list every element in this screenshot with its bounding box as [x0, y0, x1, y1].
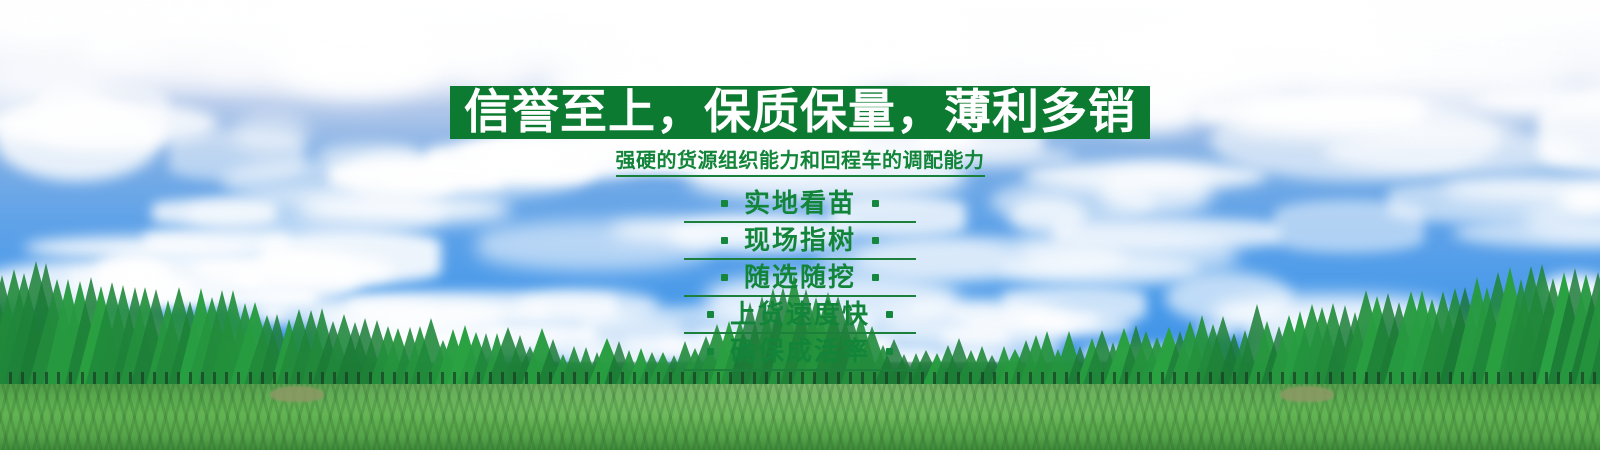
bullet-dot-icon: [886, 348, 893, 355]
feature-list: 实地看苗现场指树随选随挖上货速度快确保成活率: [0, 186, 1600, 371]
soil-mound: [270, 386, 324, 402]
promo-banner: 信誉至上，保质保量，薄利多销 强硬的货源组织能力和回程车的调配能力 实地看苗现场…: [0, 0, 1600, 450]
feature-label: 实地看苗: [744, 190, 856, 218]
bullet-dot-icon: [721, 274, 728, 281]
feature-label: 确保成活率: [730, 338, 870, 366]
green-crop-field: [0, 384, 1600, 450]
banner-content: 信誉至上，保质保量，薄利多销 强硬的货源组织能力和回程车的调配能力 实地看苗现场…: [0, 0, 1600, 371]
bullet-dot-icon: [721, 200, 728, 207]
feature-label: 随选随挖: [744, 264, 856, 292]
bullet-dot-icon: [886, 311, 893, 318]
feature-item: 现场指树: [684, 223, 916, 260]
bullet-dot-icon: [707, 311, 714, 318]
feature-item: 实地看苗: [684, 186, 916, 223]
bullet-dot-icon: [721, 237, 728, 244]
bullet-dot-icon: [872, 274, 879, 281]
feature-item: 随选随挖: [684, 260, 916, 297]
subtitle-text: 强硬的货源组织能力和回程车的调配能力: [616, 148, 985, 177]
headline-text: 信誉至上，保质保量，薄利多销: [450, 86, 1150, 139]
headline-container: 信誉至上，保质保量，薄利多销: [0, 86, 1600, 139]
feature-label: 上货速度快: [730, 301, 870, 329]
bullet-dot-icon: [872, 200, 879, 207]
soil-mound: [1280, 386, 1334, 402]
bullet-dot-icon: [872, 237, 879, 244]
subtitle-container: 强硬的货源组织能力和回程车的调配能力: [0, 139, 1600, 177]
feature-label: 现场指树: [744, 227, 856, 255]
feature-item: 上货速度快: [684, 297, 916, 334]
crop-rows-right: [0, 384, 1600, 450]
feature-item: 确保成活率: [684, 334, 916, 371]
bullet-dot-icon: [707, 348, 714, 355]
